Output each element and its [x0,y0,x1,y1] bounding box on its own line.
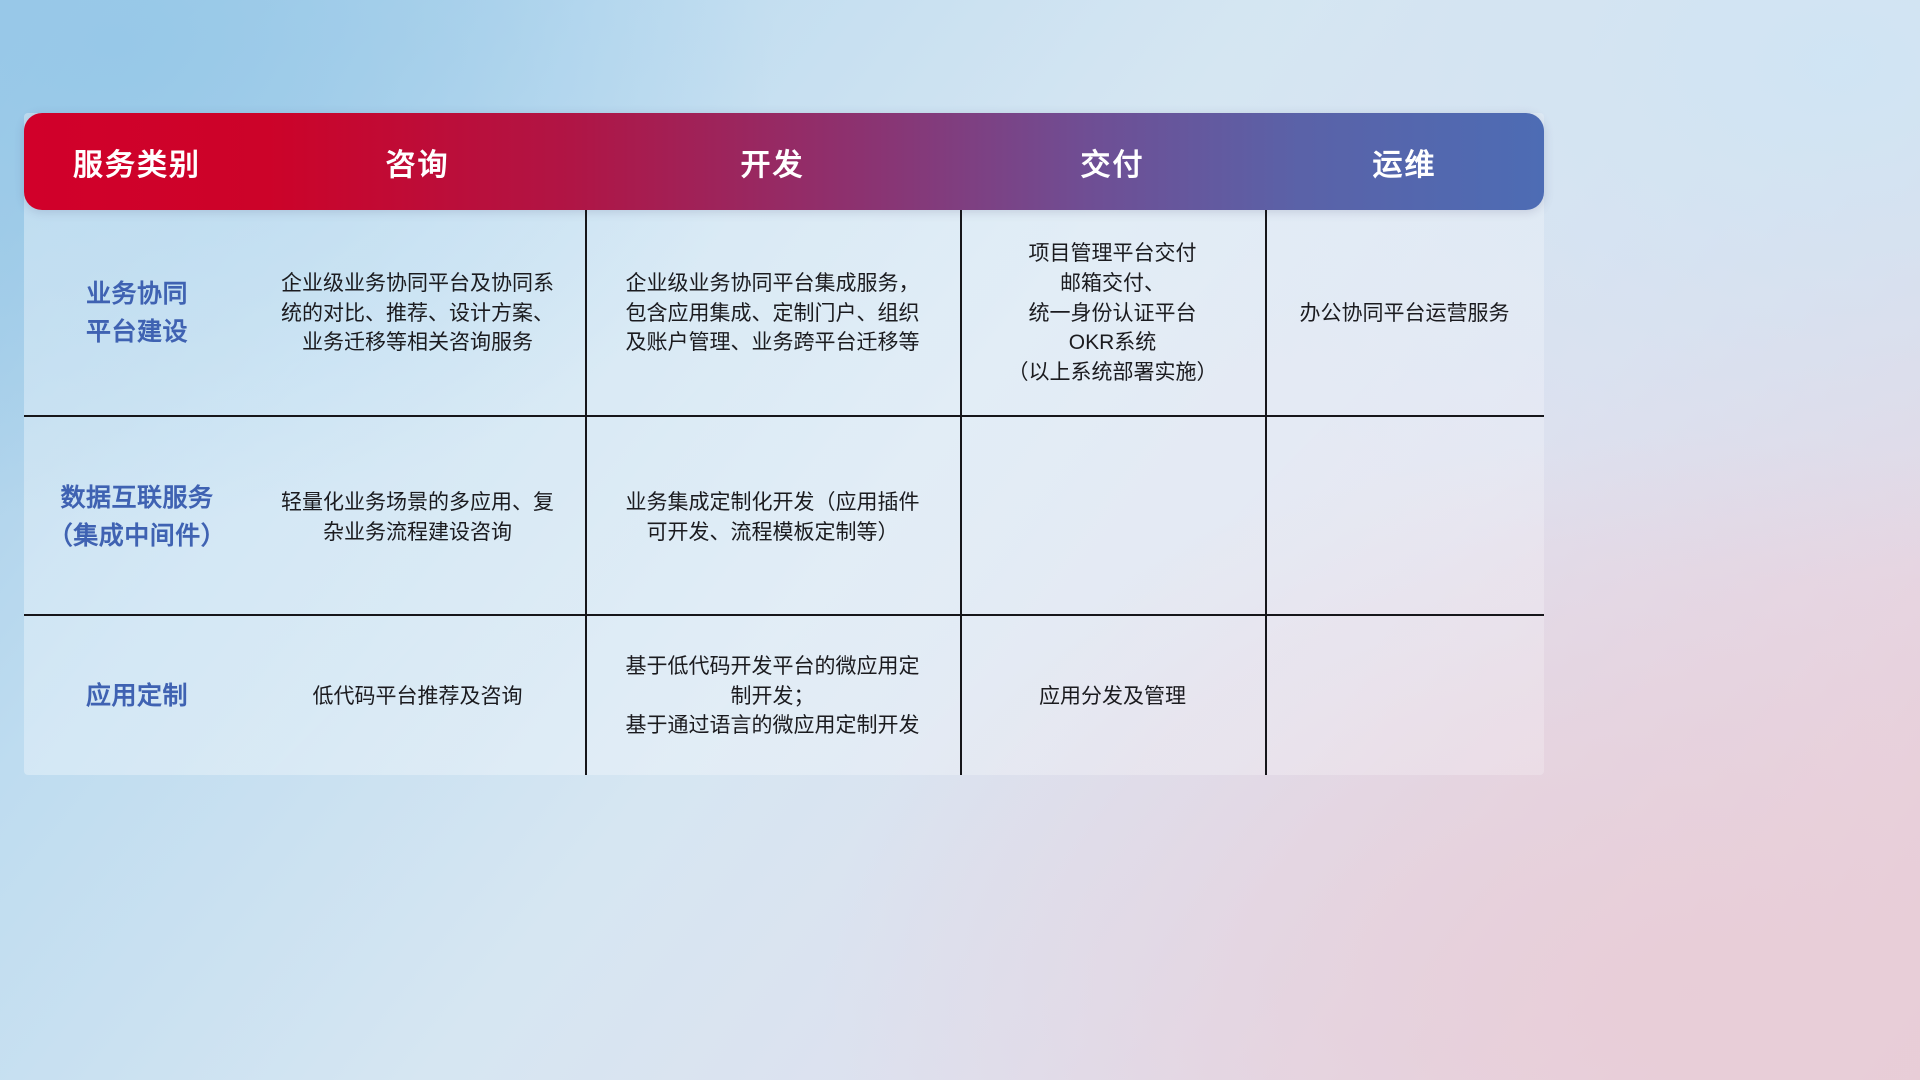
column-header-consulting: 咨询 [250,140,585,184]
column-header-delivery: 交付 [960,140,1265,184]
cell-r2-operations [1265,417,1544,618]
cell-r2-delivery [960,417,1265,618]
table-row: 应用定制 低代码平台推荐及咨询 基于低代码开发平台的微应用定 制开发； 基于通过… [24,618,1544,775]
column-header-development: 开发 [585,140,960,184]
row-label-business-collaboration: 业务协同 平台建设 [24,210,250,417]
cell-r3-consulting: 低代码平台推荐及咨询 [250,618,585,775]
cell-r1-delivery: 项目管理平台交付 邮箱交付、 统一身份认证平台 OKR系统 （以上系统部署实施） [960,210,1265,417]
table-header-row: 服务类别 咨询 开发 交付 运维 [24,113,1544,210]
cell-r1-development: 企业级业务协同平台集成服务， 包含应用集成、定制门户、组织 及账户管理、业务跨平… [585,210,960,417]
cell-r3-delivery: 应用分发及管理 [960,618,1265,775]
service-matrix-table: 服务类别 咨询 开发 交付 运维 业务协同 平台建设 企业级业务协同平台及协同系… [24,113,1544,775]
cell-r2-development: 业务集成定制化开发（应用插件 可开发、流程模板定制等） [585,417,960,618]
cell-r3-operations [1265,618,1544,775]
column-header-operations: 运维 [1265,140,1544,184]
cell-r1-operations: 办公协同平台运营服务 [1265,210,1544,417]
cell-r3-development: 基于低代码开发平台的微应用定 制开发； 基于通过语言的微应用定制开发 [585,618,960,775]
cell-r1-consulting: 企业级业务协同平台及协同系 统的对比、推荐、设计方案、 业务迁移等相关咨询服务 [250,210,585,417]
column-header-service-category: 服务类别 [24,140,250,184]
row-label-app-customization: 应用定制 [24,618,250,775]
table-body: 业务协同 平台建设 企业级业务协同平台及协同系 统的对比、推荐、设计方案、 业务… [24,210,1544,775]
table-row: 数据互联服务 （集成中间件） 轻量化业务场景的多应用、复 杂业务流程建设咨询 业… [24,417,1544,618]
cell-r2-consulting: 轻量化业务场景的多应用、复 杂业务流程建设咨询 [250,417,585,618]
table-row: 业务协同 平台建设 企业级业务协同平台及协同系 统的对比、推荐、设计方案、 业务… [24,210,1544,417]
row-label-data-interconnect: 数据互联服务 （集成中间件） [24,417,250,618]
